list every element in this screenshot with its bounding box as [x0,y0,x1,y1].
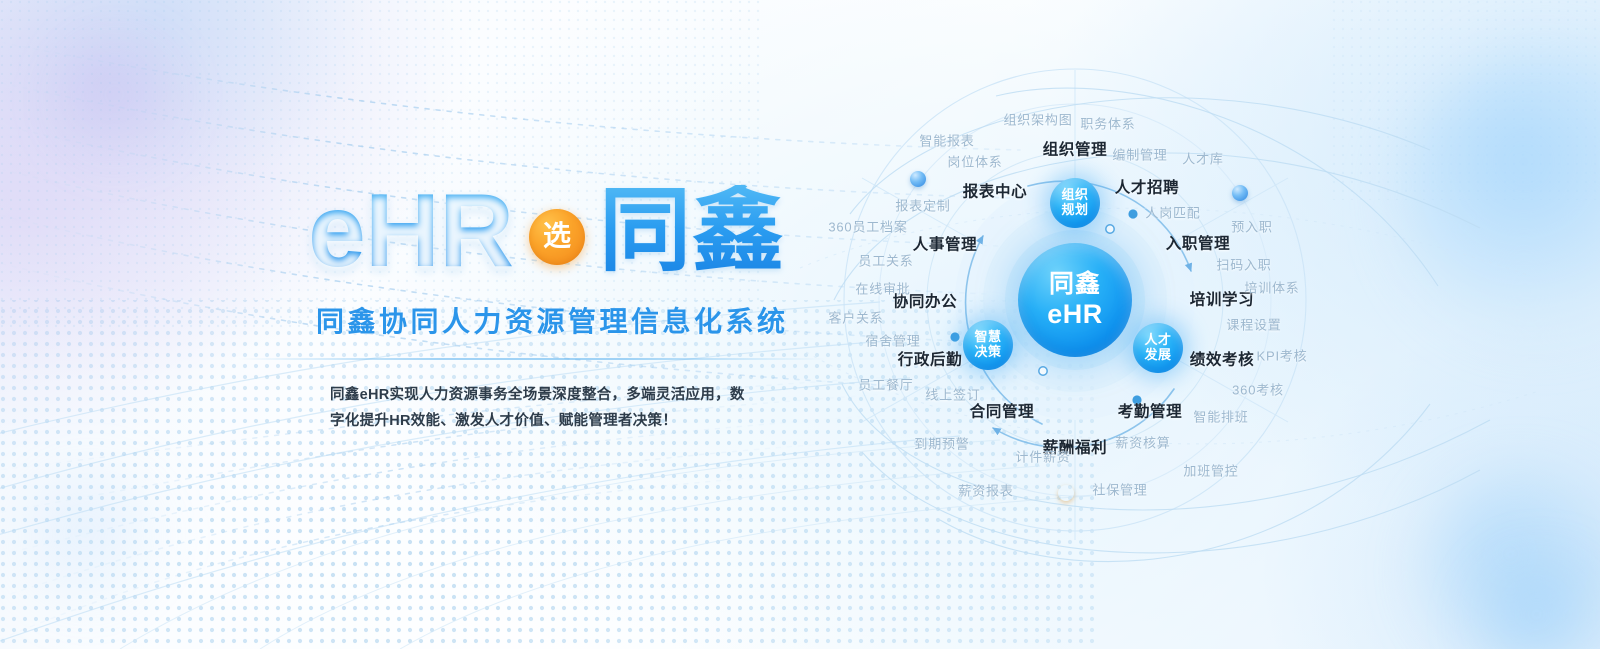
module-label-minor[interactable]: 智能排班 [1193,411,1248,424]
capability-diagram: 同鑫 eHR 组织 规划 人才 发展 智慧 决策 组织管理人才招聘入职管理培训学… [790,0,1600,649]
module-label-minor[interactable]: 在线审批 [855,283,910,296]
diagram-orbits [790,0,1600,649]
module-label-major[interactable]: 报表中心 [963,184,1027,200]
satellite-line-1: 组织 [1061,188,1088,203]
module-label-major[interactable]: 合同管理 [970,404,1034,420]
ehr-promo-banner: eHR 选 同鑫 同鑫协同人力资源管理信息化系统 同鑫eHR实现人力资源事务全场… [0,0,1600,649]
module-label-minor[interactable]: 薪资核算 [1115,437,1170,450]
module-label-minor[interactable]: 到期预警 [914,438,969,451]
node-dot-upper-left [910,171,926,187]
pick-badge: 选 [529,209,585,265]
module-label-major[interactable]: 人才招聘 [1115,180,1179,196]
module-label-minor[interactable]: 人才库 [1182,153,1223,166]
module-label-minor[interactable]: 员工餐厅 [858,379,913,392]
module-label-major[interactable]: 考勤管理 [1118,404,1182,420]
product-subtitle: 同鑫协同人力资源管理信息化系统 [250,300,820,340]
module-label-minor[interactable]: 课程设置 [1226,319,1281,332]
node-dot-bottom [1058,485,1074,501]
module-label-minor[interactable]: 薪资报表 [958,485,1013,498]
module-label-minor[interactable]: 培训体系 [1244,282,1299,295]
module-label-major[interactable]: 人事管理 [913,237,977,253]
satellite-talent-development[interactable]: 人才 发展 [1133,323,1183,373]
satellite-line-1: 智慧 [974,330,1001,345]
module-label-minor[interactable]: 报表定制 [895,200,950,213]
module-label-minor[interactable]: KPI考核 [1257,350,1308,363]
divider [238,358,826,360]
module-label-minor[interactable]: 客户关系 [828,312,883,325]
node-dot-upper-right [1232,185,1248,201]
product-description: 同鑫eHR实现人力资源事务全场景深度整合，多端灵活应用，数字化提升HR效能、激发… [250,382,750,434]
module-label-minor[interactable]: 360员工档案 [828,221,907,234]
satellite-line-2: 规划 [1061,203,1088,218]
decorative-orb [18,470,168,620]
module-label-minor[interactable]: 360考核 [1232,384,1284,397]
module-label-minor[interactable]: 预入职 [1231,221,1272,234]
decorative-orb [60,44,180,164]
satellite-line-1: 人才 [1144,333,1171,348]
module-label-minor[interactable]: 编制管理 [1112,149,1167,162]
satellite-line-2: 发展 [1144,348,1171,363]
module-label-minor[interactable]: 人岗匹配 [1145,207,1200,220]
module-label-minor[interactable]: 扫码入职 [1216,259,1271,272]
module-label-minor[interactable]: 宿舍管理 [865,335,920,348]
satellite-smart-decision[interactable]: 智慧 决策 [963,320,1013,370]
module-label-major[interactable]: 入职管理 [1166,236,1230,252]
module-label-minor[interactable]: 社保管理 [1092,484,1147,497]
satellite-line-2: 决策 [974,345,1001,360]
module-label-major[interactable]: 协同办公 [893,294,957,310]
ehr-wordmark: eHR [308,179,513,283]
module-label-major[interactable]: 绩效考核 [1190,352,1254,368]
module-label-minor[interactable]: 员工关系 [858,255,913,268]
hub-line-2: eHR [1047,299,1103,329]
module-label-major[interactable]: 行政后勤 [898,352,962,368]
module-label-minor[interactable]: 岗位体系 [947,156,1002,169]
module-label-minor[interactable]: 计件薪资 [1015,451,1070,464]
brand-panel: eHR 选 同鑫 同鑫协同人力资源管理信息化系统 同鑫eHR实现人力资源事务全场… [250,176,820,434]
hub-line-1: 同鑫 [1049,270,1101,298]
brand-name-cn: 同鑫 [599,185,785,277]
logo-row: eHR 选 同鑫 [250,176,820,286]
hub-bubble[interactable]: 同鑫 eHR [1018,243,1132,357]
module-label-major[interactable]: 组织管理 [1043,142,1107,158]
satellite-organization-planning[interactable]: 组织 规划 [1050,178,1100,228]
module-label-minor[interactable]: 智能报表 [919,135,974,148]
module-label-minor[interactable]: 加班管控 [1183,465,1238,478]
module-label-minor[interactable]: 线上签订 [925,389,980,402]
module-label-minor[interactable]: 职务体系 [1080,118,1135,131]
module-label-minor[interactable]: 组织架构图 [1003,114,1072,127]
